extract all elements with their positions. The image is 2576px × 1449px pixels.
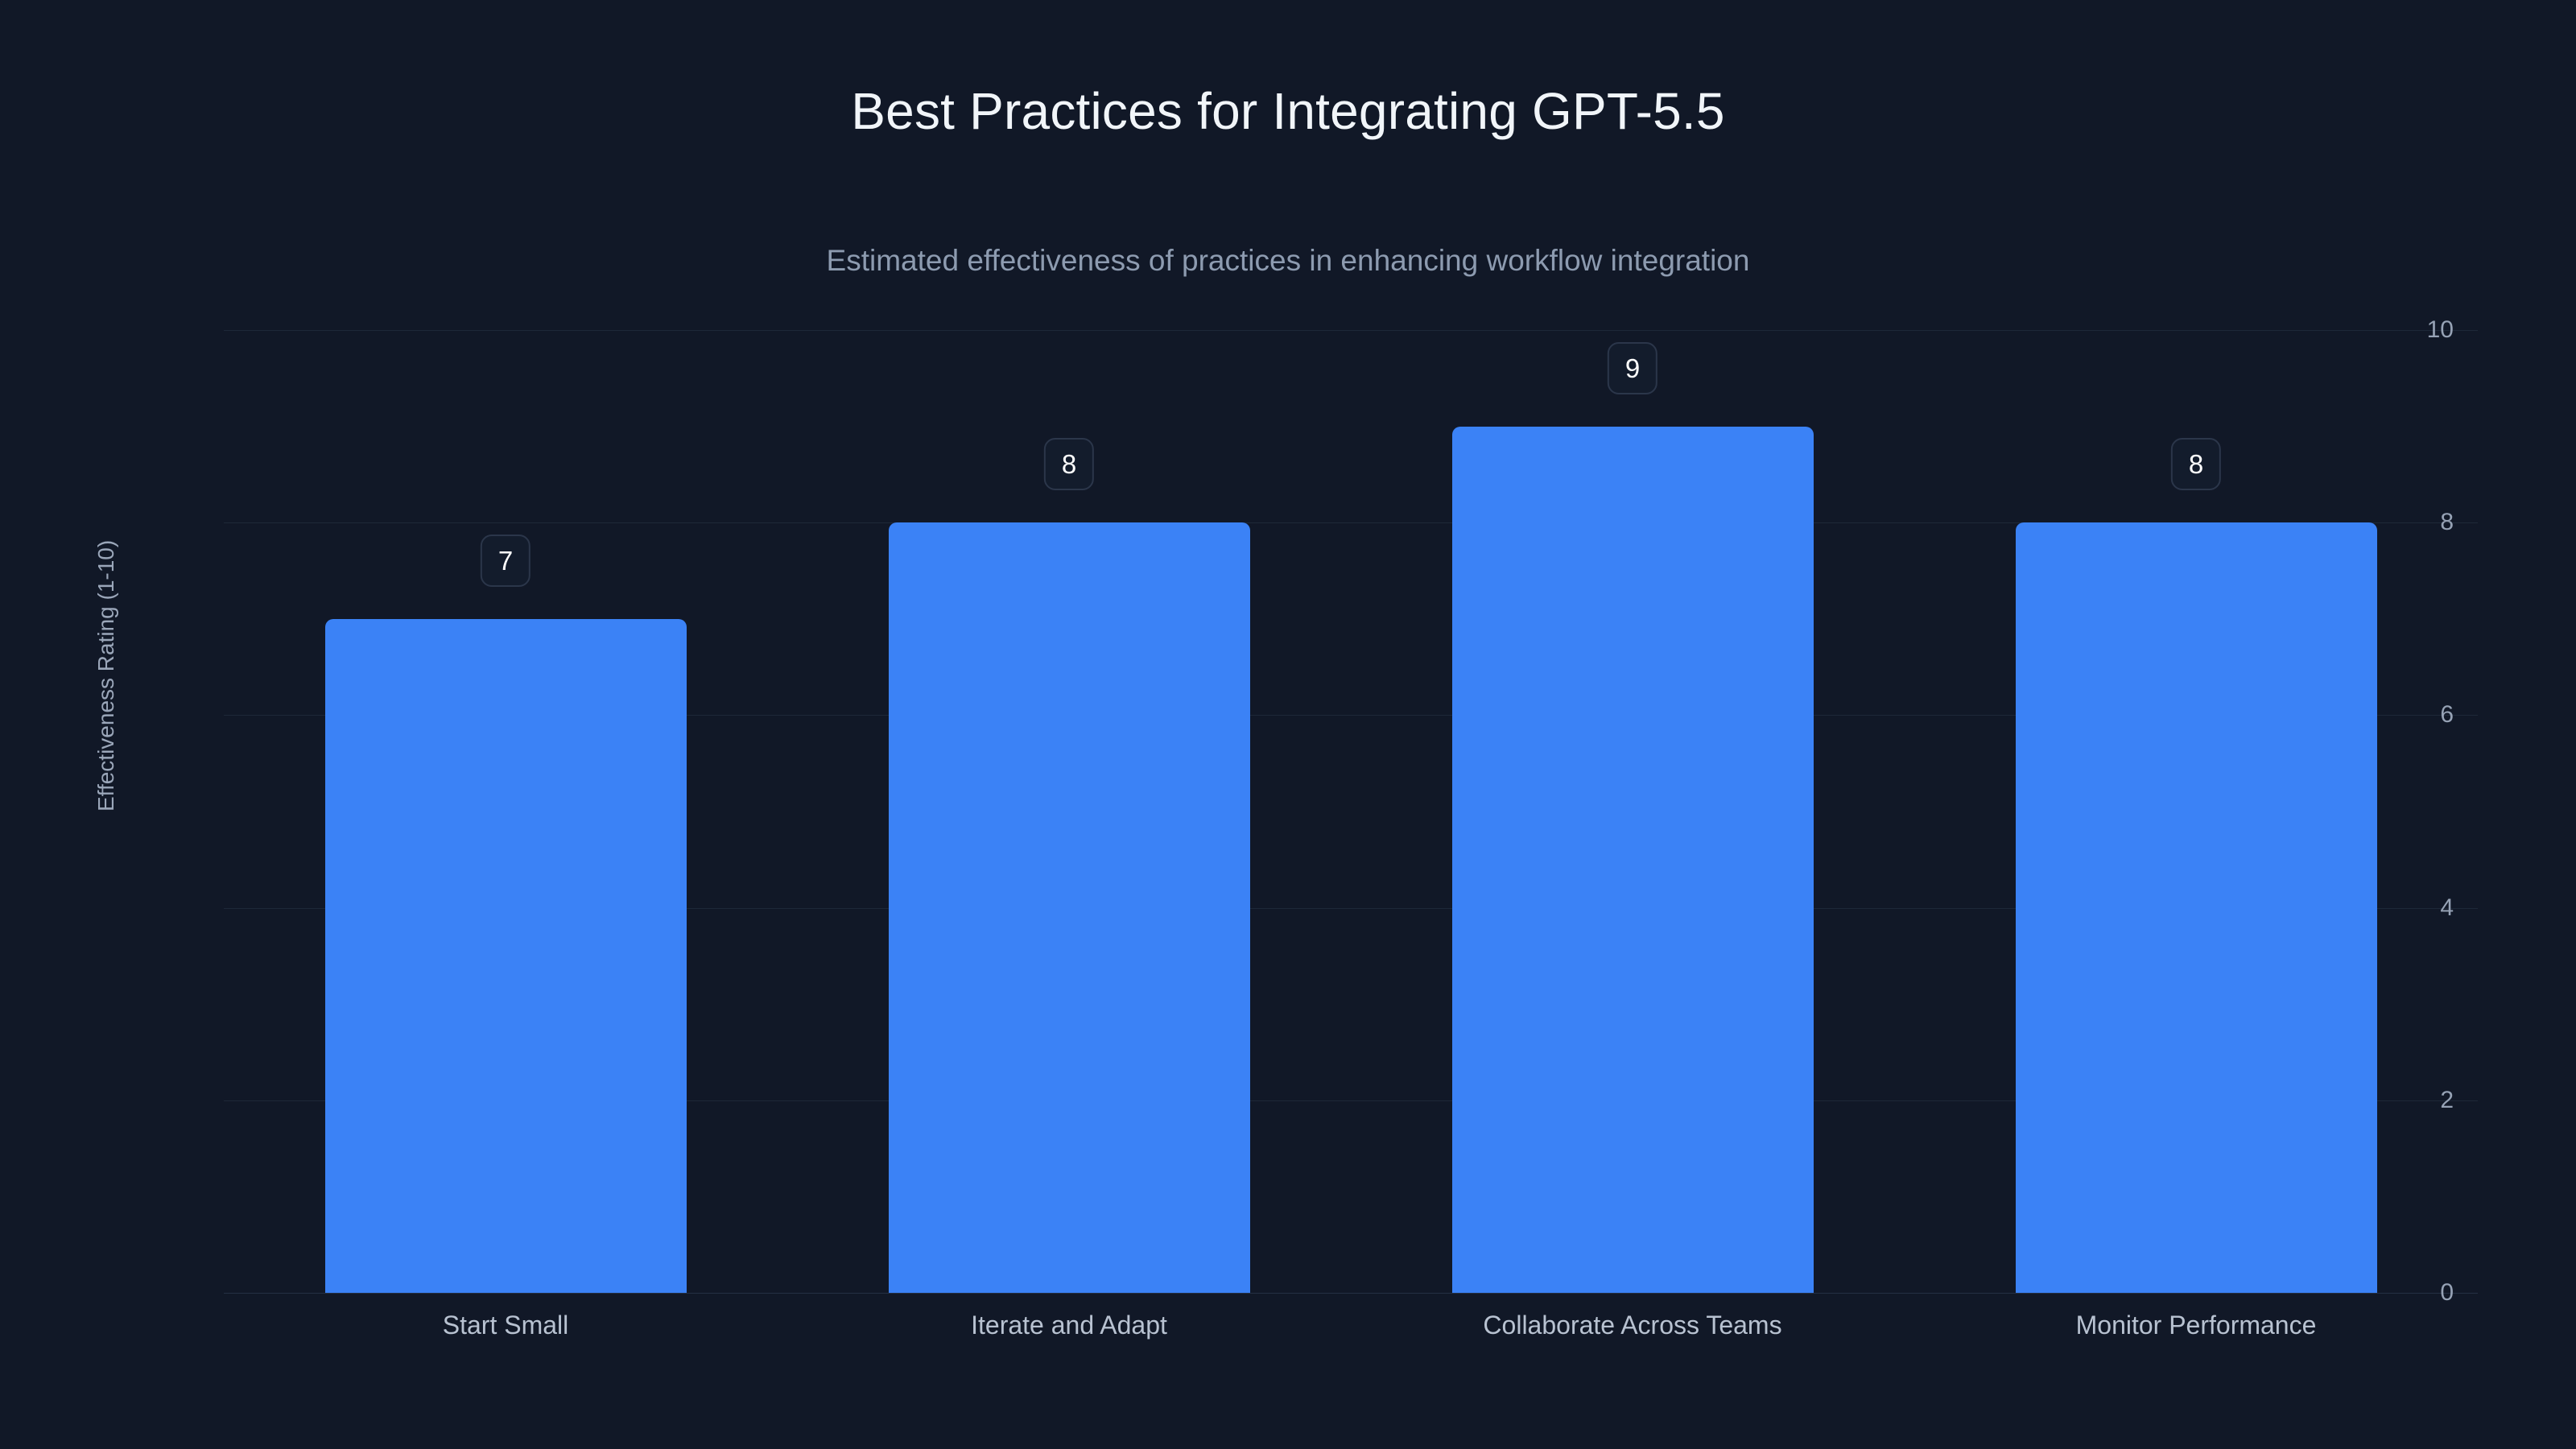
bar[interactable] (325, 619, 687, 1293)
bar-chart-figure: Best Practices for Integrating GPT-5.5 E… (0, 0, 2576, 1449)
bar-group[interactable]: 7 (325, 330, 687, 1293)
bar[interactable] (1452, 427, 1814, 1293)
bar-value-label: 8 (1044, 438, 1094, 490)
x-axis-tick-label: Collaborate Across Teams (1483, 1312, 1781, 1338)
bar[interactable] (2016, 522, 2377, 1293)
gridline (224, 1293, 2478, 1294)
bar-value-label: 8 (2171, 438, 2221, 490)
bar-group[interactable]: 8 (2016, 330, 2377, 1293)
y-axis-title: Effectiveness Rating (1-10) (95, 540, 118, 811)
bar[interactable] (889, 522, 1250, 1293)
x-axis-tick-label: Monitor Performance (2076, 1312, 2317, 1338)
bar-group[interactable]: 9 (1452, 330, 1814, 1293)
chart-title: Best Practices for Integrating GPT-5.5 (0, 85, 2576, 137)
x-axis-tick-label: Start Small (443, 1312, 568, 1338)
x-axis-tick-label: Iterate and Adapt (971, 1312, 1167, 1338)
bar-group[interactable]: 8 (889, 330, 1250, 1293)
x-axis-ticks: Start SmallIterate and AdaptCollaborate … (224, 1312, 2478, 1360)
bar-value-label: 7 (481, 535, 530, 587)
bars-layer: 7898 (224, 330, 2478, 1293)
chart-subtitle: Estimated effectiveness of practices in … (0, 246, 2576, 275)
bar-value-label: 9 (1608, 342, 1657, 394)
